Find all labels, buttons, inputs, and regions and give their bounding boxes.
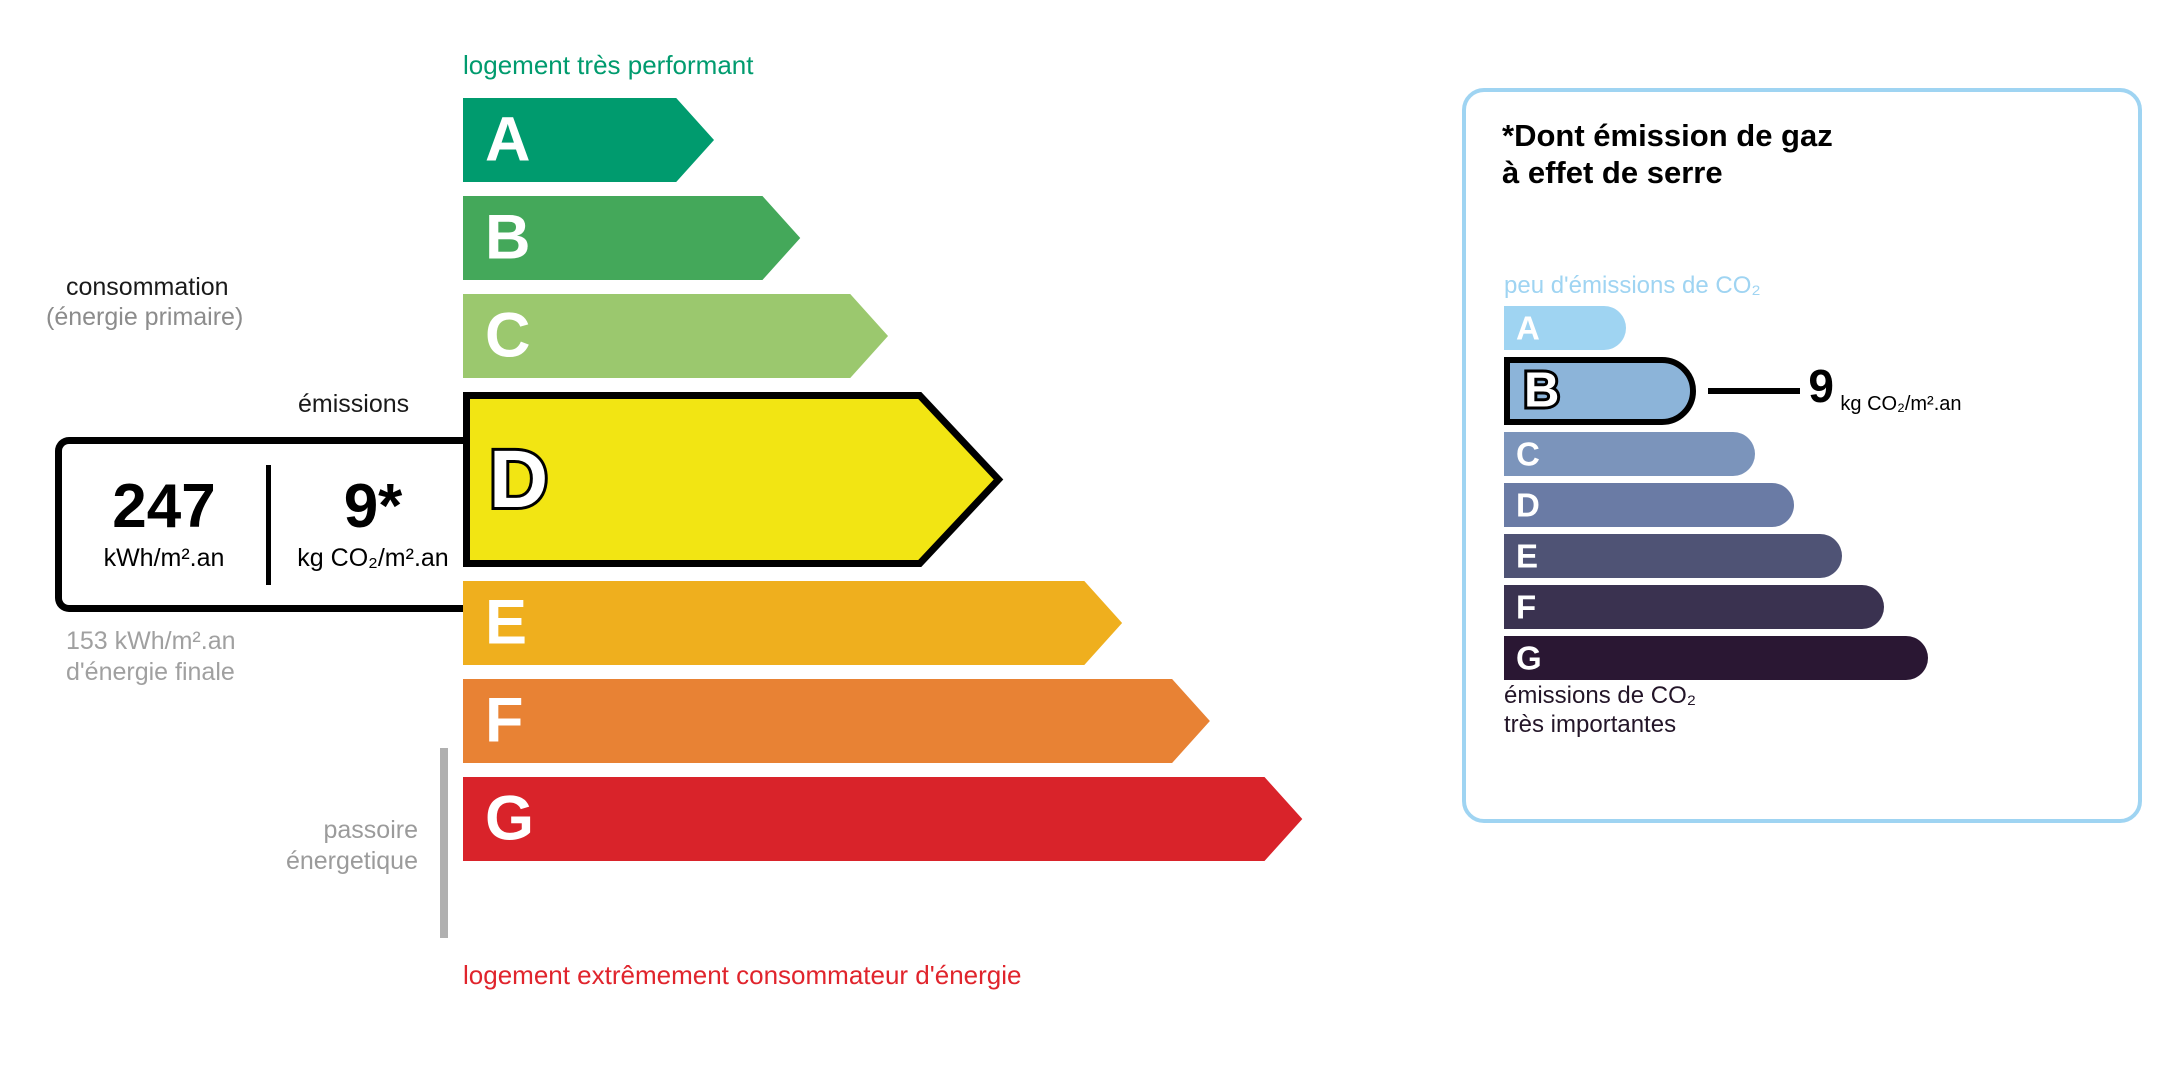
emissions-header-label: émissions: [298, 390, 409, 419]
energy-arrow-shape-f: [463, 679, 1210, 763]
dpe-value-box: 247 kWh/m².an 9* kg CO₂/m².an: [55, 437, 475, 612]
final-energy-label: d'énergie finale: [66, 657, 236, 688]
passoire-marker-bar: [440, 748, 448, 938]
ghg-top-caption: peu d'émissions de CO₂: [1504, 272, 1761, 300]
ghg-callout-leader-line: [1708, 388, 1800, 394]
energy-arrow-b: B: [463, 196, 800, 280]
energy-arrow-f: F: [463, 679, 1210, 763]
ghg-class-bar-e: E: [1504, 534, 1842, 578]
energy-class-letter-c: C: [485, 305, 531, 368]
energy-arrow-e: E: [463, 581, 1122, 665]
energy-class-letter-a: A: [485, 109, 531, 172]
ghg-bar-shape-b: B: [1504, 357, 1696, 425]
ghg-class-bar-f: F: [1504, 585, 1884, 629]
energy-class-letter-b: B: [485, 207, 531, 270]
ghg-emissions-panel: *Dont émission de gaz à effet de serre p…: [1462, 88, 2142, 823]
energy-class-letter-d: D: [489, 439, 548, 521]
ghg-class-letter-b: B: [1524, 367, 1559, 416]
energy-class-bar-e: E: [463, 581, 1122, 665]
passoire-label-line2: énergetique: [140, 846, 418, 877]
ghg-bottom-caption-line2: très importantes: [1504, 711, 1696, 740]
passoire-label: passoire énergetique: [140, 815, 418, 878]
ghg-class-letter-a: A: [1516, 312, 1540, 345]
energy-arrow-a: A: [463, 98, 714, 182]
ghg-bar-shape-e: E: [1504, 534, 1842, 578]
energy-class-letter-g: G: [485, 788, 534, 851]
emissions-value: 9*: [344, 476, 403, 538]
energy-class-bar-a: A: [463, 98, 714, 182]
energy-class-bar-f: F: [463, 679, 1210, 763]
emissions-unit: kg CO₂/m².an: [297, 544, 448, 573]
consumption-value-cell: 247 kWh/m².an: [62, 476, 266, 573]
energy-class-bar-d: D: [463, 392, 1002, 567]
ghg-class-letter-c: C: [1516, 438, 1540, 471]
consumption-header-label: consommation: [66, 273, 229, 302]
ghg-class-letter-g: G: [1516, 642, 1542, 675]
emissions-value-cell: 9* kg CO₂/m².an: [271, 476, 475, 573]
energy-arrow-c: C: [463, 294, 888, 378]
ghg-class-letter-d: D: [1516, 489, 1540, 522]
energy-bottom-caption: logement extrêmement consommateur d'éner…: [463, 960, 1021, 991]
ghg-class-bar-g: G: [1504, 636, 1928, 680]
ghg-panel-title: *Dont émission de gaz à effet de serre: [1502, 118, 1833, 191]
ghg-callout-value: 9: [1808, 363, 1834, 409]
energy-class-bar-c: C: [463, 294, 888, 378]
passoire-label-line1: passoire: [140, 815, 418, 846]
energy-arrow-shape-e: [463, 581, 1122, 665]
ghg-title-line2: à effet de serre: [1502, 155, 1833, 192]
consumption-value: 247: [112, 476, 215, 538]
energy-class-bar-g: G: [463, 777, 1302, 861]
ghg-bar-shape-g: G: [1504, 636, 1928, 680]
ghg-class-bar-c: C: [1504, 432, 1755, 476]
ghg-class-bar-d: D: [1504, 483, 1794, 527]
final-energy-value: 153 kWh/m².an: [66, 626, 236, 657]
energy-class-bar-b: B: [463, 196, 800, 280]
ghg-bar-shape-c: C: [1504, 432, 1755, 476]
energy-arrow-shape-g: [463, 777, 1302, 861]
ghg-bar-shape-d: D: [1504, 483, 1794, 527]
ghg-class-bar-a: A: [1504, 306, 1626, 350]
ghg-bar-shape-f: F: [1504, 585, 1884, 629]
ghg-class-letter-e: E: [1516, 540, 1538, 573]
energy-class-letter-e: E: [485, 592, 527, 655]
final-energy-note: 153 kWh/m².an d'énergie finale: [66, 626, 236, 689]
ghg-title-line1: *Dont émission de gaz: [1502, 118, 1833, 155]
consumption-header-sublabel: (énergie primaire): [46, 303, 243, 332]
dpe-diagram: logement très performant consommation (é…: [0, 0, 2170, 1079]
ghg-class-bar-b: B: [1504, 357, 1696, 425]
energy-arrow-d: D: [463, 392, 1002, 567]
energy-top-caption: logement très performant: [463, 50, 753, 81]
energy-class-letter-f: F: [485, 690, 523, 753]
ghg-bottom-caption: émissions de CO₂ très importantes: [1504, 682, 1696, 740]
energy-performance-panel: logement très performant consommation (é…: [0, 0, 1400, 1079]
consumption-unit: kWh/m².an: [104, 544, 225, 573]
ghg-bottom-caption-line1: émissions de CO₂: [1504, 682, 1696, 711]
ghg-callout-unit: kg CO₂/m².an: [1840, 393, 1961, 416]
ghg-class-letter-f: F: [1516, 591, 1536, 624]
energy-arrow-g: G: [463, 777, 1302, 861]
ghg-bar-shape-a: A: [1504, 306, 1626, 350]
